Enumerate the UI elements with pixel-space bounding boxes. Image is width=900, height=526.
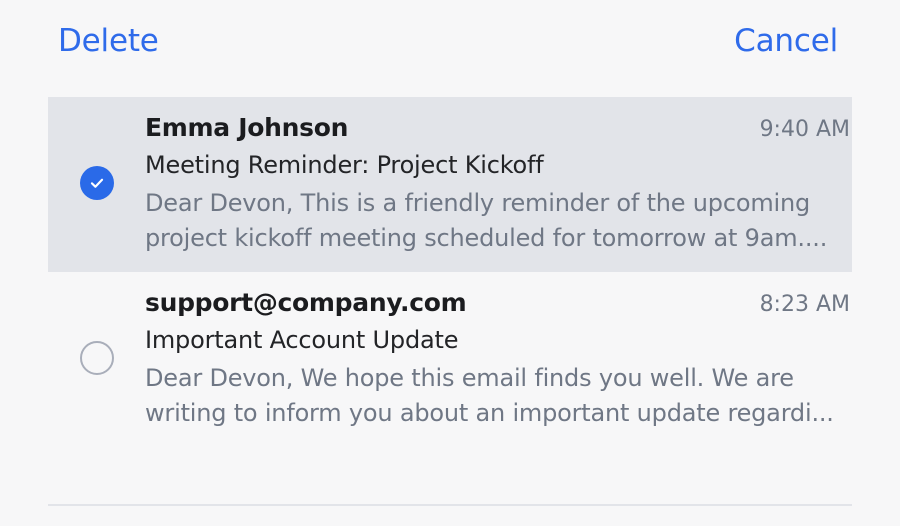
check-circle-filled-icon[interactable] — [80, 166, 114, 200]
delete-button[interactable]: Delete — [58, 26, 159, 57]
message-sender: support@company.com — [145, 286, 466, 319]
message-checkbox-cell — [48, 341, 145, 375]
message-subject: Important Account Update — [145, 323, 850, 357]
message-header-line: Emma Johnson 9:40 AM — [145, 111, 850, 144]
message-content: Emma Johnson 9:40 AM Meeting Reminder: P… — [145, 111, 852, 256]
message-list: Emma Johnson 9:40 AM Meeting Reminder: P… — [0, 97, 900, 446]
message-subject: Meeting Reminder: Project Kickoff — [145, 148, 850, 182]
message-preview: Dear Devon, We hope this email finds you… — [145, 361, 835, 431]
message-preview: Dear Devon, This is a friendly reminder … — [145, 186, 835, 256]
message-header-line: support@company.com 8:23 AM — [145, 286, 850, 319]
list-bottom-divider — [48, 504, 852, 506]
message-content: support@company.com 8:23 AM Important Ac… — [145, 286, 852, 431]
message-timestamp: 8:23 AM — [760, 290, 850, 319]
mail-selection-screen: Delete Cancel Emma Johnson 9:40 AM Meeti… — [0, 0, 900, 526]
cancel-button[interactable]: Cancel — [734, 26, 838, 57]
circle-outline-icon[interactable] — [80, 341, 114, 375]
message-sender: Emma Johnson — [145, 111, 348, 144]
message-checkbox-cell — [48, 166, 145, 200]
message-timestamp: 9:40 AM — [760, 115, 850, 144]
selection-action-bar: Delete Cancel — [0, 0, 900, 82]
message-row[interactable]: support@company.com 8:23 AM Important Ac… — [48, 272, 852, 447]
message-row[interactable]: Emma Johnson 9:40 AM Meeting Reminder: P… — [48, 97, 852, 272]
